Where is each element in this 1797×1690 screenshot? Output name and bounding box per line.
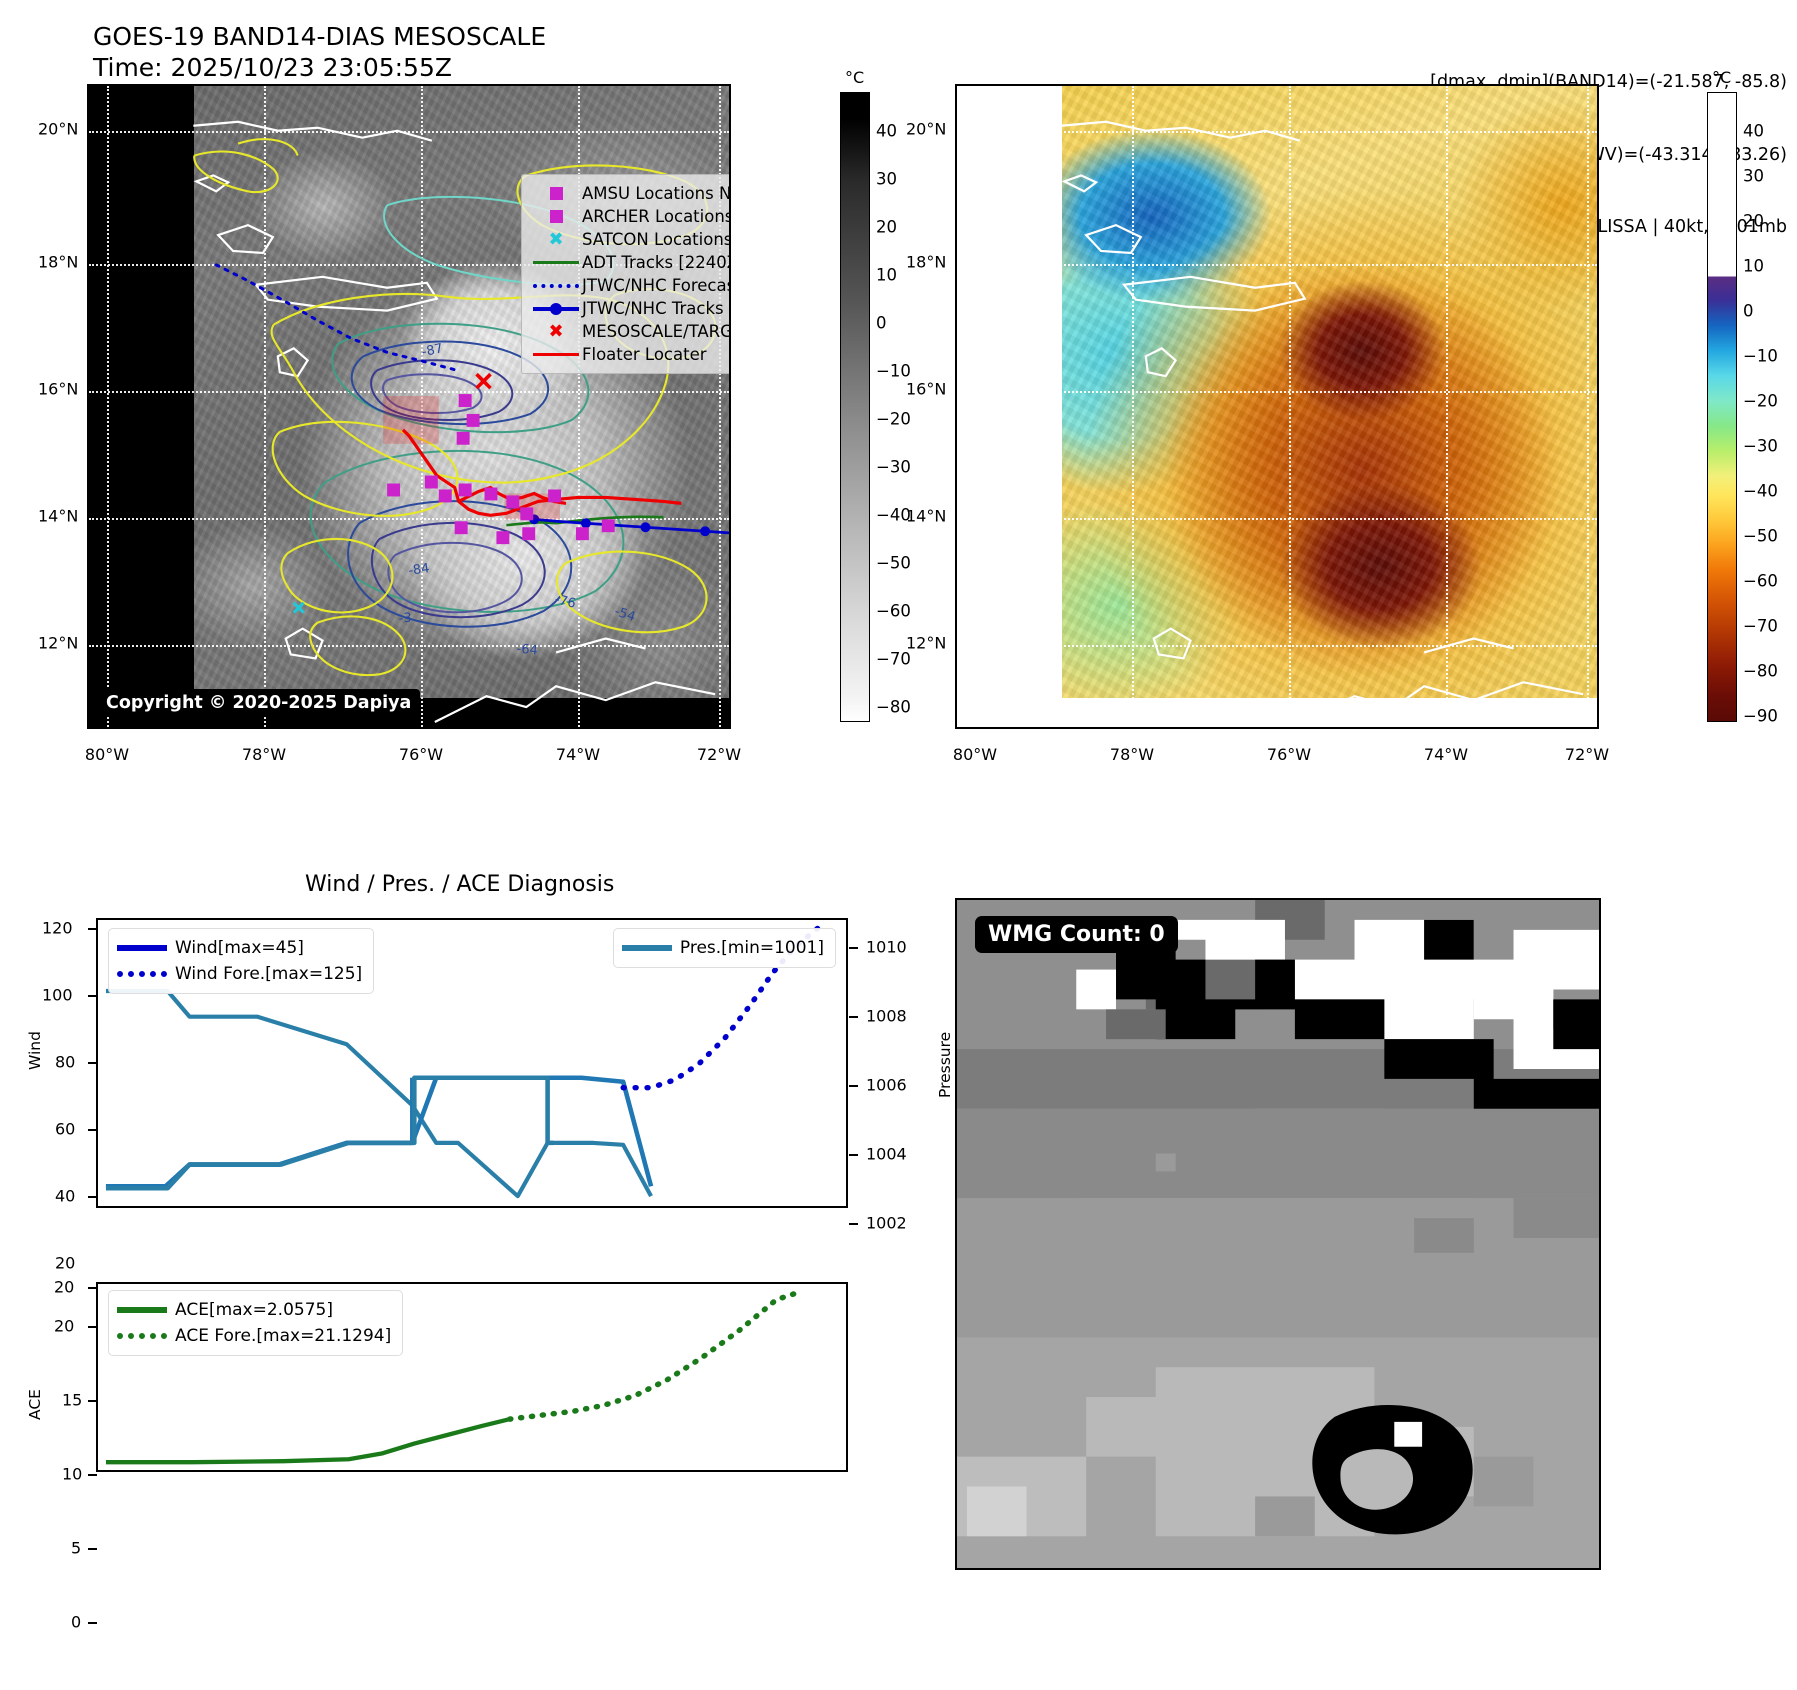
wind-tickmark <box>88 1129 97 1131</box>
ace-tickmark <box>88 1622 97 1624</box>
charts-title: Wind / Pres. / ACE Diagnosis <box>305 872 614 897</box>
lon-label-78w: 78°W <box>1110 745 1154 764</box>
ace-ytick-0: 0 <box>71 1613 81 1632</box>
ace-ytick-15: 15 <box>62 1391 82 1410</box>
wind-axis-label: Wind <box>26 1031 44 1070</box>
lon-label-76w: 76°W <box>399 745 443 764</box>
wmg-mask-field <box>957 900 1599 1568</box>
wmg-panel[interactable]: WMG Count: 0 <box>955 898 1601 1570</box>
wind-ytick-40: 40 <box>55 1187 75 1206</box>
right-colorbar-unit: °C <box>1712 68 1731 87</box>
wind-tickmark <box>88 928 97 930</box>
legend-item-amsu: AMSU Locations NONE <box>530 182 731 205</box>
lon-label-72w: 72°W <box>697 745 741 764</box>
satellite-ir-image[interactable]: -87 -84 -76 -54 -64 -3 AMSU Locations NO… <box>87 84 731 729</box>
cb-tick: 0 <box>876 314 887 333</box>
blue-line-icon <box>117 945 175 951</box>
cb-tick: −50 <box>876 554 911 573</box>
ace-tickmark <box>88 1400 97 1402</box>
ace-tickmark <box>88 1287 97 1289</box>
satcon-marker <box>294 603 304 613</box>
legend-item-jtwc-tracks: JTWC/NHC Tracks [23/1800Z] <box>530 297 731 320</box>
page-title: GOES-19 BAND14-DIAS MESOSCALE <box>93 22 546 51</box>
pres-ytick-1004: 1004 <box>866 1145 907 1164</box>
wind-tickmark <box>88 1062 97 1064</box>
lon-label-80w: 80°W <box>953 745 997 764</box>
ace-ytick-20: 20 <box>54 1317 74 1336</box>
lat-label-18n: 18°N <box>906 253 946 272</box>
pres-ytick-1010: 1010 <box>866 938 907 957</box>
cb-tick: −30 <box>1743 437 1778 456</box>
teal-line-icon <box>622 945 680 951</box>
ace-ytick-5: 5 <box>71 1539 81 1558</box>
legend-label: Pres.[min=1001] <box>680 938 824 958</box>
jtwc-forecast-track <box>216 265 456 370</box>
wind-ytick-20: 20 <box>55 1254 75 1273</box>
green-line-icon <box>117 1307 175 1313</box>
legend-item-satcon: ✖ SATCON Locations [2040Z 46 994] <box>530 228 731 251</box>
lat-label-14n: 14°N <box>38 507 78 526</box>
ace-tickmark <box>88 1474 97 1476</box>
wind-ytick-120: 120 <box>42 919 73 938</box>
wind-tickmark <box>88 995 97 997</box>
wind-ytick-100: 100 <box>42 986 73 1005</box>
legend-item-ace-forecast: ACE Fore.[max=21.1294] <box>117 1323 391 1349</box>
dashboard-root: GOES-19 BAND14-DIAS MESOSCALE Time: 2025… <box>0 0 1797 1690</box>
legend-item-floater: Floater Locater <box>530 343 731 366</box>
cb-tick: 0 <box>1743 302 1754 321</box>
pres-ytick-1006: 1006 <box>866 1076 907 1095</box>
legend-item-wind-forecast: Wind Fore.[max=125] <box>117 961 362 987</box>
ace-axis-label: ACE <box>26 1389 44 1420</box>
mesoscale-target-marker <box>477 374 491 388</box>
cb-tick: 20 <box>876 218 897 237</box>
legend-label: ACE[max=2.0575] <box>175 1300 333 1320</box>
wind-pressure-chart[interactable]: Wind[max=45] Wind Fore.[max=125] Pres.[m… <box>96 918 848 1208</box>
left-colorbar-unit: °C <box>845 68 864 87</box>
lat-label-20n: 20°N <box>906 120 946 139</box>
legend-item-mesoscale: ✖ MESOSCALE/TARGET Location <box>530 320 731 343</box>
pres-tickmark <box>849 947 858 949</box>
cb-tick: 40 <box>1743 122 1764 141</box>
cb-tick: −40 <box>1743 482 1778 501</box>
left-colorbar <box>840 92 870 722</box>
ace-series <box>106 1419 510 1462</box>
cb-tick: −70 <box>1743 617 1778 636</box>
awv-coastlines <box>957 86 1597 727</box>
right-colorbar-ticks: 40 30 20 10 0 −10 −20 −30 −40 −50 −60 −7… <box>1743 92 1797 722</box>
lat-label-20n: 20°N <box>38 120 78 139</box>
ace-tickmark <box>88 1326 97 1328</box>
legend-label: ADT Tracks [2240Z 49.0 993.2] <box>582 253 731 272</box>
legend-label: ARCHER Locations [2049Z] <box>582 207 731 226</box>
blue-line-marker-icon <box>530 307 582 311</box>
lon-label-74w: 74°W <box>1424 745 1468 764</box>
lat-label-16n: 16°N <box>38 380 78 399</box>
legend-item-ace: ACE[max=2.0575] <box>117 1297 391 1323</box>
pres-ytick-1008: 1008 <box>866 1007 907 1026</box>
magenta-square-icon <box>530 210 582 223</box>
ace-chart[interactable]: ACE[max=2.0575] ACE Fore.[max=21.1294] <box>96 1282 848 1472</box>
blue-dotted-line-icon <box>530 284 582 288</box>
cb-tick: 10 <box>876 266 897 285</box>
magenta-square-icon <box>530 187 582 200</box>
legend-item-pressure: Pres.[min=1001] <box>622 935 824 961</box>
lon-label-80w: 80°W <box>85 745 129 764</box>
lat-label-16n: 16°N <box>906 380 946 399</box>
legend-label: JTWC/NHC Forecast [23/1800Z] <box>582 276 731 295</box>
lat-label-14n: 14°N <box>906 507 946 526</box>
cb-tick: 30 <box>876 170 897 189</box>
pres-tickmark <box>849 1154 858 1156</box>
red-x-icon: ✖ <box>530 323 582 341</box>
lon-label-72w: 72°W <box>1565 745 1609 764</box>
lon-label-74w: 74°W <box>556 745 600 764</box>
cb-tick: 20 <box>1743 212 1764 231</box>
lon-label-78w: 78°W <box>242 745 286 764</box>
ace-tickmark <box>88 1548 97 1550</box>
pres-tickmark <box>849 1085 858 1087</box>
lon-label-76w: 76°W <box>1267 745 1311 764</box>
wind-ytick-80: 80 <box>55 1053 75 1072</box>
lat-label-12n: 12°N <box>38 634 78 653</box>
ace-ytick-10: 10 <box>62 1465 82 1484</box>
svg-text:-76: -76 <box>553 592 577 612</box>
legend-label: Wind[max=45] <box>175 938 304 958</box>
cb-tick: 40 <box>876 122 897 141</box>
legend-label: JTWC/NHC Tracks [23/1800Z] <box>582 299 731 318</box>
legend-label: Wind Fore.[max=125] <box>175 964 362 984</box>
lat-label-12n: 12°N <box>906 634 946 653</box>
cb-tick: −10 <box>1743 347 1778 366</box>
cb-tick: 30 <box>1743 167 1764 186</box>
cb-tick: −20 <box>1743 392 1778 411</box>
svg-text:-64: -64 <box>516 642 539 659</box>
legend-label: MESOSCALE/TARGET Location <box>582 322 731 341</box>
cb-tick: −10 <box>876 362 911 381</box>
pressure-legend: Pres.[min=1001] <box>613 928 836 968</box>
cb-tick: −80 <box>1743 662 1778 681</box>
ace-legend: ACE[max=2.0575] ACE Fore.[max=21.1294] <box>108 1290 403 1356</box>
green-dotted-line-icon <box>117 1333 175 1339</box>
lat-label-18n: 18°N <box>38 253 78 272</box>
svg-text:-3: -3 <box>398 611 412 627</box>
pres-tickmark <box>849 1223 858 1225</box>
legend-item-wind: Wind[max=45] <box>117 935 362 961</box>
cyan-x-icon: ✖ <box>530 231 582 249</box>
svg-text:-54: -54 <box>612 604 637 625</box>
svg-text:-87: -87 <box>421 341 445 360</box>
svg-text:-84: -84 <box>407 561 430 579</box>
floater-locater <box>383 396 681 519</box>
legend-label: SATCON Locations [2040Z 46 994] <box>582 230 731 249</box>
cb-tick: −90 <box>1743 707 1778 726</box>
wind-ytick-60: 60 <box>55 1120 75 1139</box>
satellite-awv-image[interactable] <box>955 84 1599 729</box>
cb-tick: −50 <box>1743 527 1778 546</box>
legend-label: ACE Fore.[max=21.1294] <box>175 1326 391 1346</box>
cb-tick: −20 <box>876 410 911 429</box>
wmg-count-badge: WMG Count: 0 <box>975 916 1178 953</box>
map-legend: AMSU Locations NONE ARCHER Locations [20… <box>521 174 731 374</box>
legend-item-jtwc-forecast: JTWC/NHC Forecast [23/1800Z] <box>530 274 731 297</box>
pres-ytick-1002: 1002 <box>866 1214 907 1233</box>
legend-label: AMSU Locations NONE <box>582 184 731 203</box>
ace-forecast-series <box>510 1292 800 1419</box>
cb-tick: −30 <box>876 458 911 477</box>
cb-tick: 10 <box>1743 257 1764 276</box>
ace-ytick-20b: 20 <box>54 1278 74 1297</box>
left-colorbar-ticks: 40 30 20 10 0 −10 −20 −30 −40 −50 −60 −7… <box>876 92 946 722</box>
cb-tick: −60 <box>1743 572 1778 591</box>
cb-tick: −80 <box>876 698 911 717</box>
legend-item-archer: ARCHER Locations [2049Z] <box>530 205 731 228</box>
right-colorbar <box>1707 92 1737 722</box>
page-timestamp: Time: 2025/10/23 23:05:55Z <box>93 53 452 82</box>
pressure-axis-label: Pressure <box>936 1032 954 1098</box>
copyright-badge: Copyright © 2020-2025 Dapiya <box>97 689 420 717</box>
pres-tickmark <box>849 1016 858 1018</box>
wind-legend: Wind[max=45] Wind Fore.[max=125] <box>108 928 374 994</box>
blue-dotted-line-icon <box>117 971 175 977</box>
cb-tick: −60 <box>876 602 911 621</box>
legend-item-adt: ADT Tracks [2240Z 49.0 993.2] <box>530 251 731 274</box>
green-line-icon <box>530 261 582 264</box>
red-line-icon <box>530 353 582 356</box>
wind-tickmark <box>88 1196 97 1198</box>
legend-label: Floater Locater <box>582 345 707 364</box>
